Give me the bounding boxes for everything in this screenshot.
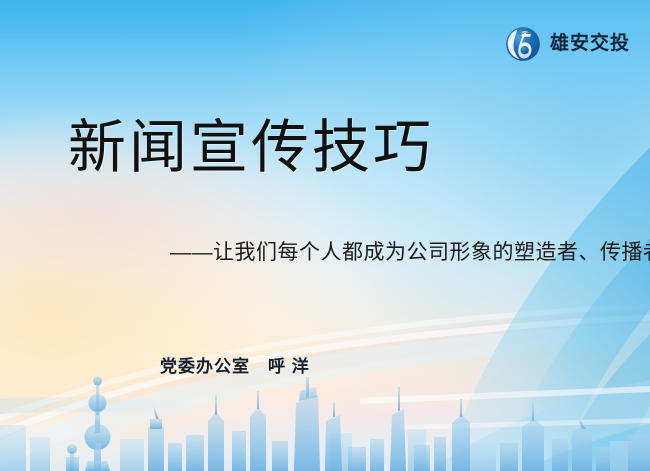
brand-lockup: 雄安交投 bbox=[505, 26, 630, 62]
xiongan-circular-logo-icon bbox=[505, 26, 541, 62]
presenter-line: 党委办公室 呼 洋 bbox=[160, 355, 310, 379]
presentation-slide: 新闻宣传技巧 ——让我们每个人都成为公司形象的塑造者、传播者 党委办公室 呼 洋 bbox=[0, 0, 650, 471]
page-title: 新闻宣传技巧 bbox=[68, 112, 434, 184]
slide-subtitle: ——让我们每个人都成为公司形象的塑造者、传播者 bbox=[170, 238, 650, 268]
city-skyline-silhouette-icon bbox=[0, 351, 650, 471]
brand-name-label: 雄安交投 bbox=[550, 26, 630, 62]
